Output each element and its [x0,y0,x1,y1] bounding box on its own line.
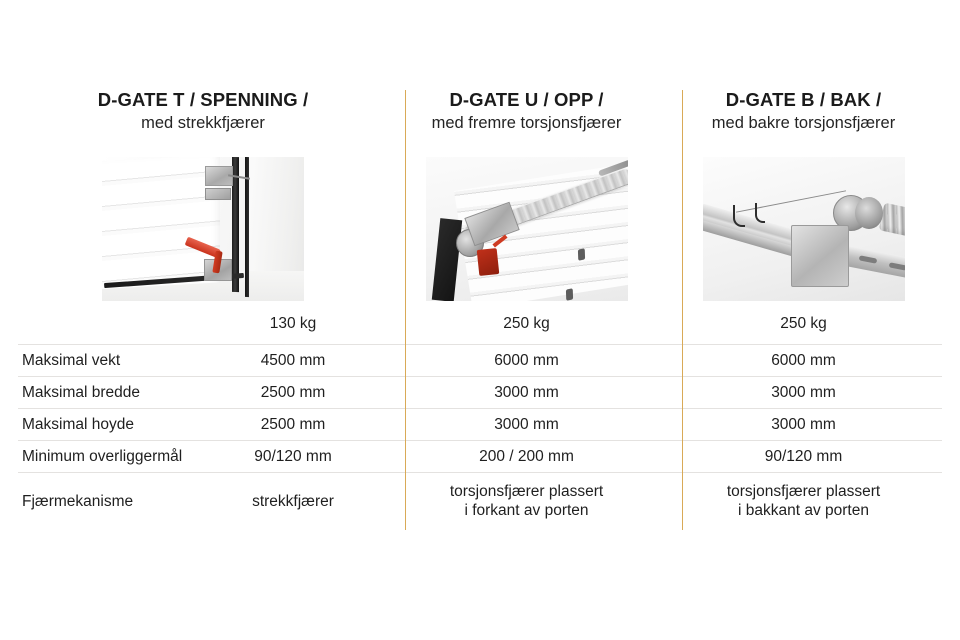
product-photos-row [18,157,942,301]
photo-slot-0 [18,157,388,301]
row-value-0: 4500 mm [198,351,388,371]
photo3-mounting-plate [791,225,849,287]
row-value-0: 2500 mm [198,383,388,403]
column-subtitle-0: med strekkfjærer [22,112,384,134]
photo2-panel-slot-lower [565,288,572,301]
photo3-hook-2 [755,203,765,223]
photo3-cable-drum-secondary [855,197,883,229]
table-row: 130 kg 250 kg 250 kg [18,303,942,344]
table-row: Minimum overliggermål 90/120 mm 200 / 20… [18,440,942,472]
photo2-panel-slot-upper [577,248,584,261]
table-row: Fjærmekanisme strekkfjærer torsjonsfjære… [18,472,942,529]
row-label: Maksimal vekt [18,351,198,371]
photo1-upper-bracket-lower [205,188,231,200]
front-torsion-spring-photo [426,157,628,301]
rear-torsion-spring-photo [703,157,905,301]
column-header-1: D-GATE U / OPP / med fremre torsjonsfjær… [388,88,665,148]
row-value-1: 250 kg [388,314,665,334]
photo3-hook-1 [733,205,745,227]
table-row: Maksimal vekt 4500 mm 6000 mm 6000 mm [18,344,942,376]
row-value-1: 3000 mm [388,415,665,435]
photo2-red-handle [476,248,499,276]
photo-slot-1 [388,157,665,301]
row-value-1: 200 / 200 mm [388,447,665,467]
sectional-door-tension-spring-photo [102,157,304,301]
row-label: Fjærmekanisme [18,492,198,511]
row-value-1: 3000 mm [388,383,665,403]
column-header-2: D-GATE B / BAK / med bakre torsjonsfjære… [665,88,942,148]
row-value-0: 130 kg [198,314,388,334]
column-title-2: D-GATE B / BAK / [669,88,938,112]
photo1-door-panels [102,157,220,289]
photo-slot-2 [665,157,942,301]
row-label: Maksimal hoyde [18,415,198,435]
row-value-1: torsjonsfjærer plasserti forkant av port… [388,482,665,520]
column-divider-2 [682,90,683,530]
spec-table: 130 kg 250 kg 250 kg Maksimal vekt 4500 … [18,303,942,529]
row-value-2: 90/120 mm [665,447,942,467]
row-value-1: 6000 mm [388,351,665,371]
column-title-0: D-GATE T / SPENNING / [22,88,384,112]
row-value-2: torsjonsfjærer plasserti bakkant av port… [665,482,942,520]
row-value-2: 3000 mm [665,383,942,403]
row-label: Maksimal bredde [18,383,198,403]
column-subtitle-1: med fremre torsjonsfjærer [392,112,661,134]
table-row: Maksimal bredde 2500 mm 3000 mm 3000 mm [18,376,942,408]
comparison-table-sheet: D-GATE T / SPENNING / med strekkfjærer D… [0,0,960,640]
row-value-0: strekkfjærer [198,492,388,511]
row-value-0: 2500 mm [198,415,388,435]
column-divider-1 [405,90,406,530]
column-header-0: D-GATE T / SPENNING / med strekkfjærer [18,88,388,148]
row-value-2: 250 kg [665,314,942,334]
column-subtitle-2: med bakre torsjonsfjærer [669,112,938,134]
table-row: Maksimal hoyde 2500 mm 3000 mm 3000 mm [18,408,942,440]
column-title-1: D-GATE U / OPP / [392,88,661,112]
column-headers: D-GATE T / SPENNING / med strekkfjærer D… [18,88,942,148]
row-value-2: 3000 mm [665,415,942,435]
row-value-0: 90/120 mm [198,447,388,467]
row-value-2: 6000 mm [665,351,942,371]
row-label: Minimum overliggermål [18,447,198,467]
